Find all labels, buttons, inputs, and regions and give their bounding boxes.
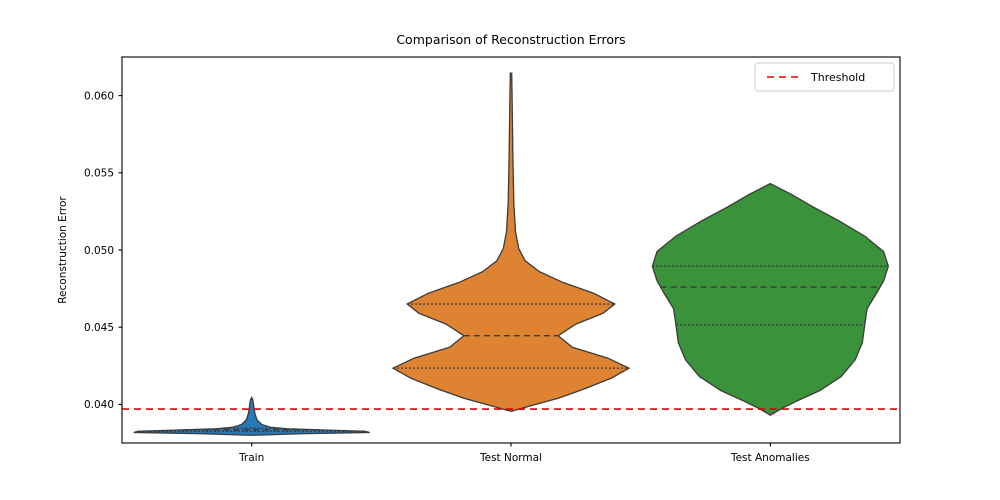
x-tick-label-1: Test Normal (479, 452, 542, 464)
violin-test-normal[interactable] (393, 73, 629, 411)
figure-canvas: 0.0400.0450.0500.0550.060TrainTest Norma… (0, 0, 1000, 500)
violin-train[interactable] (134, 397, 370, 435)
violin-test-anomalies[interactable] (652, 184, 888, 416)
legend-threshold-label: Threshold (810, 71, 865, 84)
x-tick-label-2: Test Anomalies (730, 452, 810, 464)
y-tick-label-2: 0.050 (84, 245, 114, 257)
y-axis-label: Reconstruction Error (57, 196, 69, 304)
y-tick-label-0: 0.040 (84, 399, 114, 411)
x-tick-label-0: Train (238, 452, 264, 464)
y-tick-label-4: 0.060 (84, 90, 114, 102)
y-tick-label-3: 0.055 (84, 168, 114, 180)
chart-title: Comparison of Reconstruction Errors (396, 32, 625, 47)
y-tick-label-1: 0.045 (84, 322, 114, 334)
violin-plot-svg: 0.0400.0450.0500.0550.060TrainTest Norma… (0, 0, 1000, 500)
